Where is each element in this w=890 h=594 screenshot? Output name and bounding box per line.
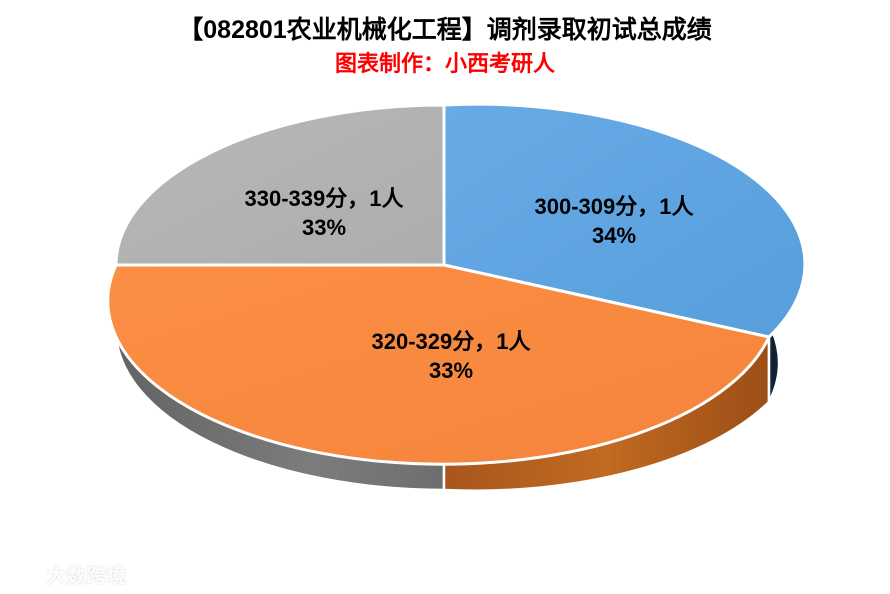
title-block: 【082801农业机械化工程】调剂录取初试总成绩 图表制作：小西考研人 [0,14,890,79]
page-title: 【082801农业机械化工程】调剂录取初试总成绩 [0,14,890,46]
chart-subtitle: 图表制作：小西考研人 [0,49,890,79]
pie-chart [0,0,890,594]
chart-canvas: 【082801农业机械化工程】调剂录取初试总成绩 图表制作：小西考研人 [0,0,890,594]
pie-slice-gray[interactable] [116,105,444,265]
